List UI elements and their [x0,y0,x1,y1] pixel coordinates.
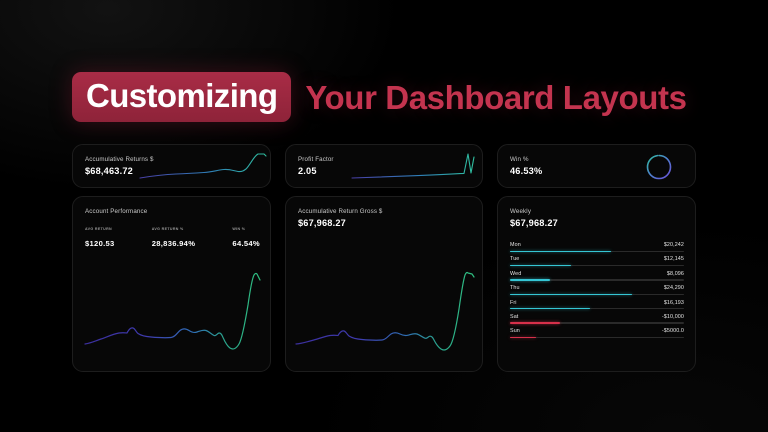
weekly-bar-track-sat [510,322,684,323]
weekly-row-mon[interactable]: Mon $20,242 [510,242,684,252]
weekly-breakdown-list: Mon $20,242 Tue $12,145 Wed [510,242,684,343]
weekly-day-thu: Thu [510,285,520,291]
title-badge-text: Customizing [86,79,277,112]
win-rate-text: Win % 46.53% [510,156,542,176]
weekly-bar-fill-mon [510,251,611,252]
weekly-amount-thu: $24,290 [664,285,684,291]
account-performance-title: Account Performance [85,208,258,215]
card-win-rate[interactable]: Win % 46.53% [497,144,696,188]
weekly-amount-sun: -$5000.0 [662,328,684,334]
weekly-day-mon: Mon [510,242,521,248]
weekly-row-wed[interactable]: Wed $8,096 [510,271,684,281]
weekly-bar-track-fri [510,308,684,309]
weekly-amount-mon: $20,242 [664,242,684,248]
stat-avg-return-pct-label: AVG RETURN % [152,227,196,231]
accumulative-gross-label: Accumulative Return Gross $ [298,208,470,215]
weekly-row-tue[interactable]: Tue $12,145 [510,256,684,266]
card-profit-factor[interactable]: Profit Factor 2.05 [285,144,483,188]
stat-avg-return-label: AVG RETURN [85,227,115,231]
win-rate-label: Win % [510,156,542,163]
weekly-amount-tue: $12,145 [664,256,684,262]
profit-factor-value: 2.05 [298,166,334,176]
win-rate-value: 46.53% [510,166,542,176]
weekly-day-fri: Fri [510,300,517,306]
weekly-row-sat[interactable]: Sat -$10,000 [510,314,684,324]
card-accumulative-gross[interactable]: Accumulative Return Gross $ $67,968.27 [285,196,483,372]
weekly-value: $67,968.27 [510,218,683,228]
page-title: Customizing Your Dashboard Layouts [72,72,687,122]
weekly-bar-fill-sun [510,337,536,338]
accumulative-gross-value: $67,968.27 [298,218,470,228]
weekly-amount-wed: $8,096 [667,271,684,277]
weekly-bar-fill-thu [510,294,632,295]
weekly-bar-fill-fri [510,308,590,309]
title-highlight-badge: Customizing [72,72,291,122]
account-performance-chart [73,247,271,367]
win-rate-gauge-fill [648,156,671,179]
weekly-header: Weekly $67,968.27 [510,208,683,228]
card-accumulative-returns[interactable]: Accumulative Returns $ $68,463.72 [72,144,271,188]
dashboard-stage: Customizing Your Dashboard Layouts Accum… [0,0,768,432]
profit-factor-sparkline [350,147,482,187]
weekly-day-sat: Sat [510,314,518,320]
accumulative-gross-header: Accumulative Return Gross $ $67,968.27 [298,208,470,228]
weekly-day-tue: Tue [510,256,519,262]
weekly-bar-track-wed [510,279,684,280]
profit-factor-text: Profit Factor 2.05 [298,156,334,176]
weekly-bar-track-thu [510,294,684,295]
weekly-row-thu[interactable]: Thu $24,290 [510,285,684,295]
weekly-day-sun: Sun [510,328,520,334]
card-account-performance[interactable]: Account Performance AVG RETURN $120.53 A… [72,196,271,372]
weekly-day-wed: Wed [510,271,521,277]
win-rate-gauge [629,145,689,188]
weekly-label: Weekly [510,208,683,215]
weekly-row-sun[interactable]: Sun -$5000.0 [510,328,684,338]
weekly-amount-sat: -$10,000 [662,314,684,320]
weekly-bar-track-mon [510,251,684,252]
weekly-bar-track-tue [510,265,684,266]
weekly-amount-fri: $16,193 [664,300,684,306]
stat-win-pct-label: WIN % [232,227,260,231]
weekly-row-fri[interactable]: Fri $16,193 [510,300,684,310]
accumulative-gross-chart [286,247,483,367]
profit-factor-label: Profit Factor [298,156,334,163]
weekly-bar-fill-sat [510,322,560,323]
title-rest-text: Your Dashboard Layouts [305,81,686,114]
weekly-bar-track-sun [510,337,684,338]
weekly-bar-fill-wed [510,279,550,280]
card-weekly[interactable]: Weekly $67,968.27 Mon $20,242 Tue $12,14… [497,196,696,372]
accumulative-returns-sparkline [138,147,270,187]
weekly-bar-fill-tue [510,265,571,266]
account-performance-header: Account Performance [85,208,258,215]
